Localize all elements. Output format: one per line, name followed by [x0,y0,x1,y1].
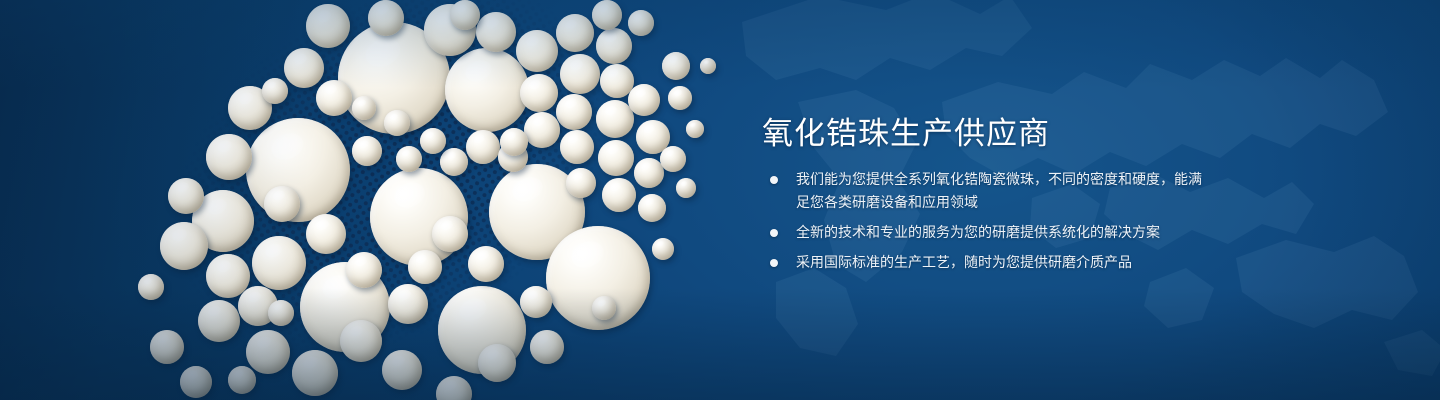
hero-banner: 氧化锆珠生产供应商 我们能为您提供全系列氧化锆陶瓷微珠，不同的密度和硬度，能满足… [0,0,1440,400]
feature-text: 全新的技术和专业的服务为您的研磨提供系统化的解决方案 [796,221,1208,244]
bullet-dot-icon [770,259,778,267]
list-item: 全新的技术和专业的服务为您的研磨提供系统化的解决方案 [768,221,1208,244]
banner-headline: 氧化锆珠生产供应商 [762,108,1050,153]
feature-text: 我们能为您提供全系列氧化锆陶瓷微珠，不同的密度和硬度，能满足您各类研磨设备和应用… [796,168,1208,214]
banner-content: 氧化锆珠生产供应商 我们能为您提供全系列氧化锆陶瓷微珠，不同的密度和硬度，能满足… [762,0,1322,400]
bullet-dot-icon [770,229,778,237]
list-item: 采用国际标准的生产工艺，随时为您提供研磨介质产品 [768,251,1208,274]
feature-text: 采用国际标准的生产工艺，随时为您提供研磨介质产品 [796,251,1208,274]
bullet-dot-icon [770,176,778,184]
list-item: 我们能为您提供全系列氧化锆陶瓷微珠，不同的密度和硬度，能满足您各类研磨设备和应用… [768,168,1208,214]
banner-feature-list: 我们能为您提供全系列氧化锆陶瓷微珠，不同的密度和硬度，能满足您各类研磨设备和应用… [768,168,1208,274]
